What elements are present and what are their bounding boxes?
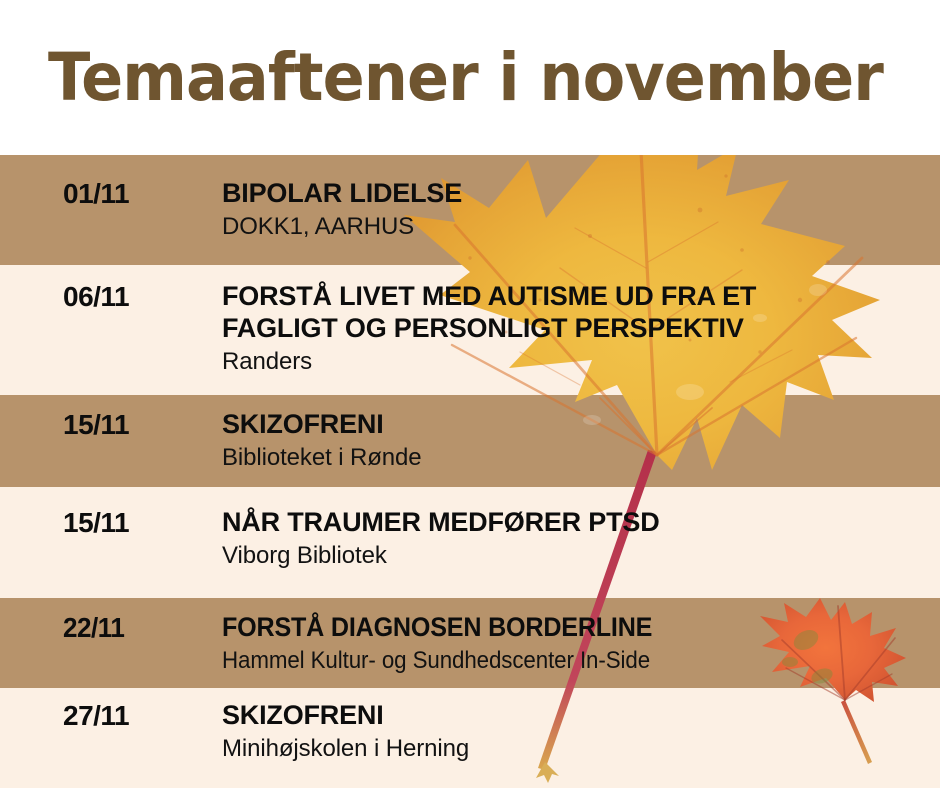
event-row-band	[0, 487, 940, 598]
page-title: Temaaftener i november	[48, 45, 883, 111]
event-row-band	[0, 395, 940, 487]
event-row-band	[0, 688, 940, 788]
event-row-band	[0, 598, 940, 688]
title-bar: Temaaftener i november	[0, 0, 940, 155]
event-row-band	[0, 265, 940, 395]
event-row-band	[0, 155, 940, 265]
poster: Temaaftener i november 01/11BIPOLAR LIDE…	[0, 0, 940, 788]
